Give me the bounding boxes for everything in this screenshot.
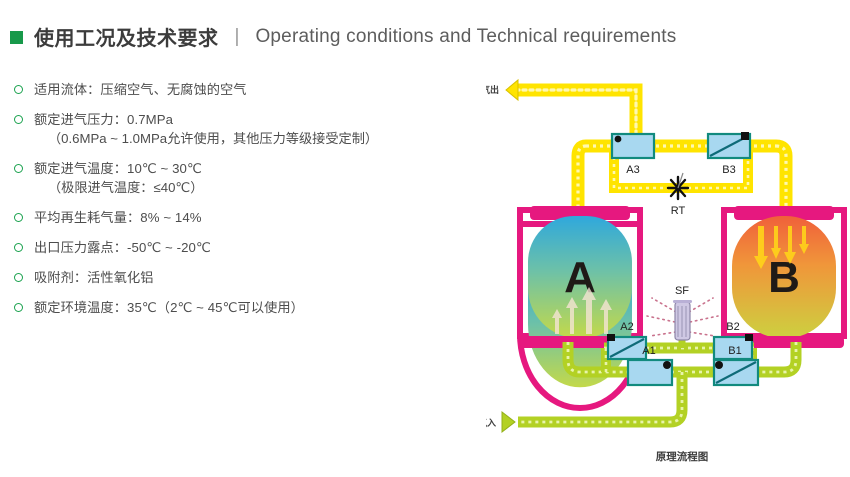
spec-text: 额定进气压力：0.7MPa [34, 110, 472, 129]
spec-text: 平均再生耗气量：8% ~ 14% [34, 208, 472, 227]
valve-a3-label: A3 [626, 164, 639, 176]
tank-a: A [520, 206, 640, 408]
bullet-ring-icon [14, 243, 23, 252]
list-item: 额定进气温度：10℃ ~ 30℃ （极限进气温度：≤40℃） [12, 159, 472, 197]
list-item: 适用流体：压缩空气、无腐蚀的空气 [12, 80, 472, 99]
moist-air-inlet-label: 潮湿空气入 [486, 417, 496, 428]
spec-subtext: （0.6MPa ~ 1.0MPa允许使用，其他压力等级接受定制） [34, 129, 472, 148]
spec-text: 适用流体：压缩空气、无腐蚀的空气 [34, 80, 472, 99]
valve-b2-label: B2 [726, 321, 739, 333]
list-item: 吸附剂：活性氧化铝 [12, 268, 472, 287]
sf-label: SF [675, 285, 689, 297]
moist-air-inlet-arrow-icon [502, 412, 515, 432]
dry-air-outlet-arrow-icon [506, 80, 518, 100]
bullet-ring-icon [14, 85, 23, 94]
bullet-ring-icon [14, 273, 23, 282]
list-item: 额定环境温度：35℃（2℃ ~ 45℃可以使用） [12, 298, 472, 317]
rt-label: RT [671, 205, 686, 217]
list-item: 出口压力露点：-50℃ ~ -20℃ [12, 238, 472, 257]
header-marker-icon [10, 31, 23, 44]
bullet-ring-icon [14, 303, 23, 312]
spec-text: 额定进气温度：10℃ ~ 30℃ [34, 159, 472, 178]
spec-text: 吸附剂：活性氧化铝 [34, 268, 472, 287]
tank-b: B [724, 206, 844, 348]
page-header: 使用工况及技术要求 | Operating conditions and Tec… [10, 22, 676, 51]
spec-text: 出口压力露点：-50℃ ~ -20℃ [34, 238, 472, 257]
diagram-caption: 原理流程图 [656, 450, 709, 463]
valve-a2[interactable] [607, 334, 646, 359]
bullet-ring-icon [14, 115, 23, 124]
page-title-en: Operating conditions and Technical requi… [255, 26, 676, 48]
valve-a1[interactable] [628, 360, 672, 385]
valve-b1[interactable] [714, 360, 758, 385]
spec-subtext: （极限进气温度：≤40℃） [34, 178, 472, 197]
bullet-ring-icon [14, 213, 23, 222]
spec-text: 额定环境温度：35℃（2℃ ~ 45℃可以使用） [34, 298, 472, 317]
process-flow-diagram: 干燥空气出 A B [486, 60, 850, 477]
tank-b-label: B [768, 253, 800, 302]
dry-air-outlet-label: 干燥空气出 [486, 84, 499, 95]
spec-list: 适用流体：压缩空气、无腐蚀的空气 额定进气压力：0.7MPa （0.6MPa ~… [12, 80, 472, 328]
valve-b3[interactable] [708, 132, 750, 158]
valve-a2-label: A2 [620, 321, 633, 333]
bullet-ring-icon [14, 164, 23, 173]
list-item: 额定进气压力：0.7MPa （0.6MPa ~ 1.0MPa允许使用，其他压力等… [12, 110, 472, 148]
valve-a3[interactable] [612, 134, 654, 158]
valve-b3-label: B3 [722, 164, 735, 176]
title-separator: | [235, 26, 240, 48]
list-item: 平均再生耗气量：8% ~ 14% [12, 208, 472, 227]
valve-b1-label: B1 [728, 345, 741, 357]
sf-silencer-icon [647, 298, 718, 340]
page-title-cn: 使用工况及技术要求 [34, 22, 219, 51]
valve-a1-label: A1 [642, 345, 655, 357]
